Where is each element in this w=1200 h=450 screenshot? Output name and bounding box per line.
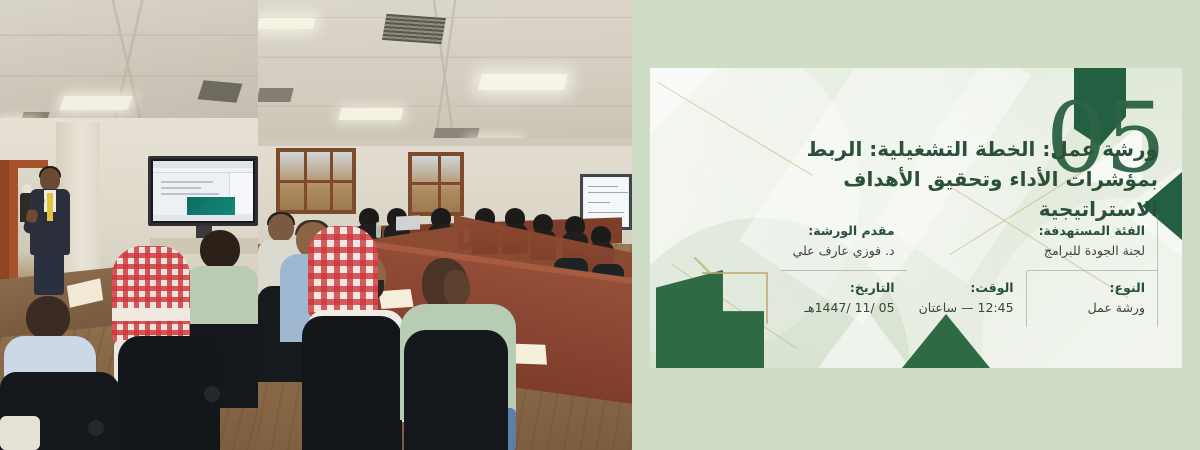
detail-cell-time: الوقت: 12:45 — ساعتان: [907, 271, 1027, 327]
window: [276, 148, 356, 214]
detail-label: التاريخ:: [793, 279, 895, 298]
detail-label: الوقت:: [919, 279, 1014, 298]
ceiling-vent-icon: [382, 14, 446, 44]
detail-label: مقدم الورشة:: [793, 222, 895, 241]
photo-audience: [258, 0, 632, 450]
ceiling-vent-icon: [197, 80, 242, 102]
detail-cell-presenter: مقدم الورشة: د. فوزي عارف علي: [781, 214, 907, 271]
card-title: ورشة عمل: الخطة التشغيلية: الربط بمؤشرات…: [730, 134, 1158, 224]
ceiling-grid: [0, 0, 258, 128]
chair-wheel: [204, 386, 220, 402]
ceiling-light: [339, 108, 404, 120]
attendee-figure: [186, 230, 258, 322]
chair: [302, 316, 402, 450]
detail-value: ورشة عمل: [1039, 298, 1145, 317]
detail-cell-type: النوع: ورشة عمل: [1027, 271, 1158, 327]
ceiling-light: [258, 18, 315, 29]
event-panel: 05 ورشة عمل: الخطة التشغيلية: الربط بمؤش…: [632, 0, 1200, 450]
photo-presenter: [0, 0, 258, 450]
detail-value: لجنة الجودة للبرامج: [1039, 241, 1145, 260]
detail-cell-date: التاريخ: 05 /11 /1447هـ: [781, 271, 907, 327]
detail-value: 05 /11 /1447هـ: [793, 298, 895, 317]
door-edge: [0, 160, 9, 290]
ceiling-light: [478, 74, 567, 90]
attendee-figure: [0, 416, 40, 450]
card-details-grid: الفئة المستهدفة: لجنة الجودة للبرامج مقد…: [792, 214, 1158, 327]
event-card: 05 ورشة عمل: الخطة التشغيلية: الربط بمؤش…: [650, 68, 1182, 368]
detail-label: النوع:: [1039, 279, 1145, 298]
corner-triangle-decoration: [650, 68, 716, 134]
gold-arrow-outline-decoration: [702, 272, 768, 324]
chair: [404, 330, 508, 450]
detail-label: الفئة المستهدفة:: [1039, 222, 1145, 241]
presenter-figure: [28, 168, 72, 294]
ceiling-light: [59, 96, 133, 110]
detail-value: د. فوزي عارف علي: [793, 241, 895, 260]
chair-wheel: [88, 420, 104, 436]
poster-canvas: 05 ورشة عمل: الخطة التشغيلية: الربط بمؤش…: [0, 0, 1200, 450]
window: [408, 152, 464, 216]
ceiling-vent-icon: [258, 88, 294, 102]
wall-beam: [258, 138, 632, 146]
detail-value: 12:45 — ساعتان: [919, 298, 1014, 317]
detail-cell-target-audience: الفئة المستهدفة: لجنة الجودة للبرامج: [1027, 214, 1158, 271]
presentation-display: [148, 156, 258, 226]
